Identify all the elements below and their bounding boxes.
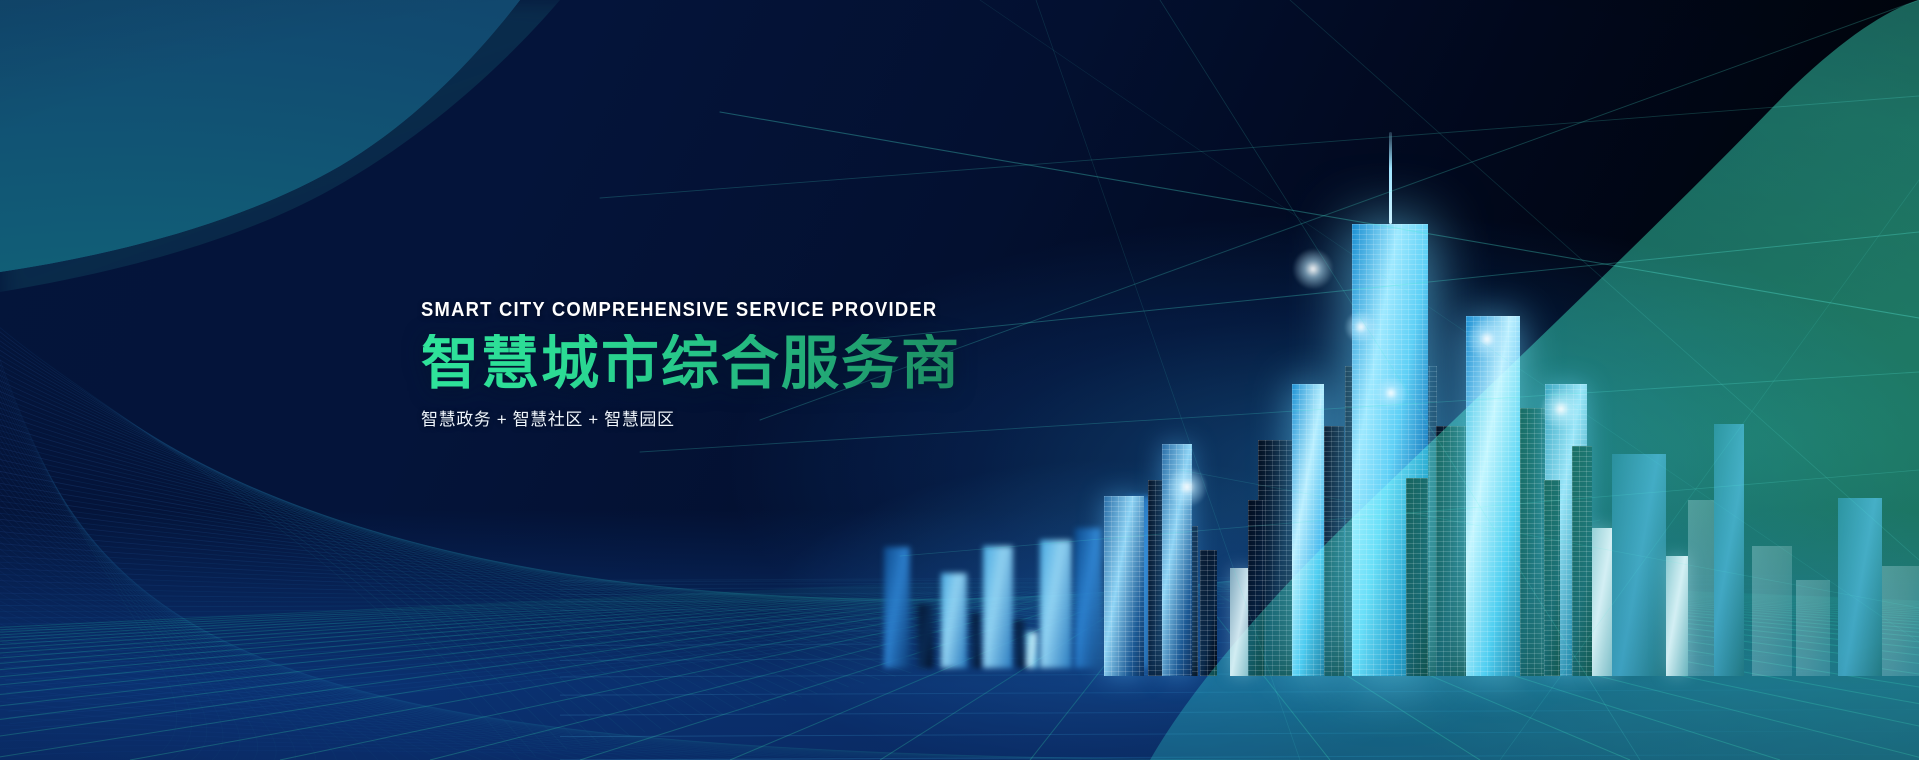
eyebrow-tagline: SMART CITY COMPREHENSIVE SERVICE PROVIDE… xyxy=(421,300,1065,320)
sky-line xyxy=(1290,0,1919,560)
hero-banner: SMART CITY COMPREHENSIVE SERVICE PROVIDE… xyxy=(0,0,1919,760)
sky-line xyxy=(720,112,1919,318)
window-highlight xyxy=(1292,248,1334,290)
tower-spire xyxy=(1389,132,1392,224)
window-highlight xyxy=(1374,376,1408,410)
window-highlight xyxy=(1166,466,1208,508)
window-highlight xyxy=(1466,318,1508,360)
perspective-floor xyxy=(0,510,1919,760)
window-highlight xyxy=(1540,388,1582,430)
window-highlight xyxy=(1344,310,1378,344)
subtitle-services: 智慧政务 + 智慧社区 + 智慧园区 xyxy=(421,411,1121,428)
hero-copy-block: SMART CITY COMPREHENSIVE SERVICE PROVIDE… xyxy=(421,300,1121,428)
page-title: 智慧城市综合服务商 xyxy=(421,334,1121,393)
sky-line xyxy=(600,96,1919,198)
